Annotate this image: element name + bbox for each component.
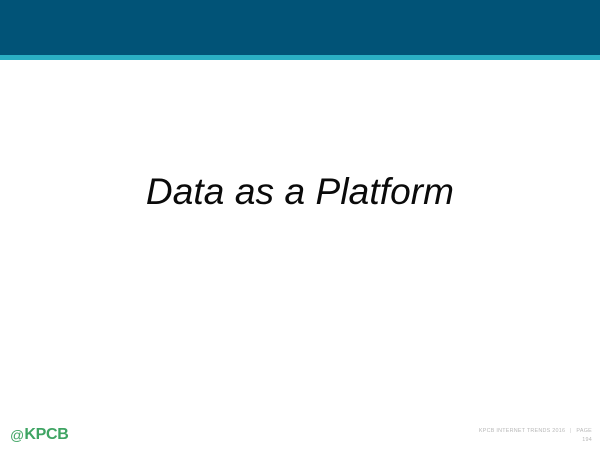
slide-title-area: Data as a Platform (0, 60, 600, 405)
kpcb-wordmark: KPCB (24, 427, 68, 443)
page-number: 194 (479, 436, 592, 444)
page-title: Data as a Platform (146, 172, 454, 213)
kpcb-logo: @ KPCB (10, 427, 69, 443)
slide-footer: @ KPCB KPCB INTERNET TRENDS 2016 | PAGE … (0, 405, 600, 450)
page-label: PAGE (576, 428, 592, 434)
slide-header-band (0, 0, 600, 55)
deck-title-label: KPCB INTERNET TRENDS 2016 (479, 428, 565, 434)
presentation-slide: Data as a Platform @ KPCB KPCB INTERNET … (0, 0, 600, 450)
footer-metadata-line-primary: KPCB INTERNET TRENDS 2016 | PAGE (479, 427, 592, 435)
footer-metadata: KPCB INTERNET TRENDS 2016 | PAGE 194 (479, 427, 592, 444)
footer-separator: | (567, 427, 575, 435)
at-symbol-icon: @ (10, 428, 24, 442)
